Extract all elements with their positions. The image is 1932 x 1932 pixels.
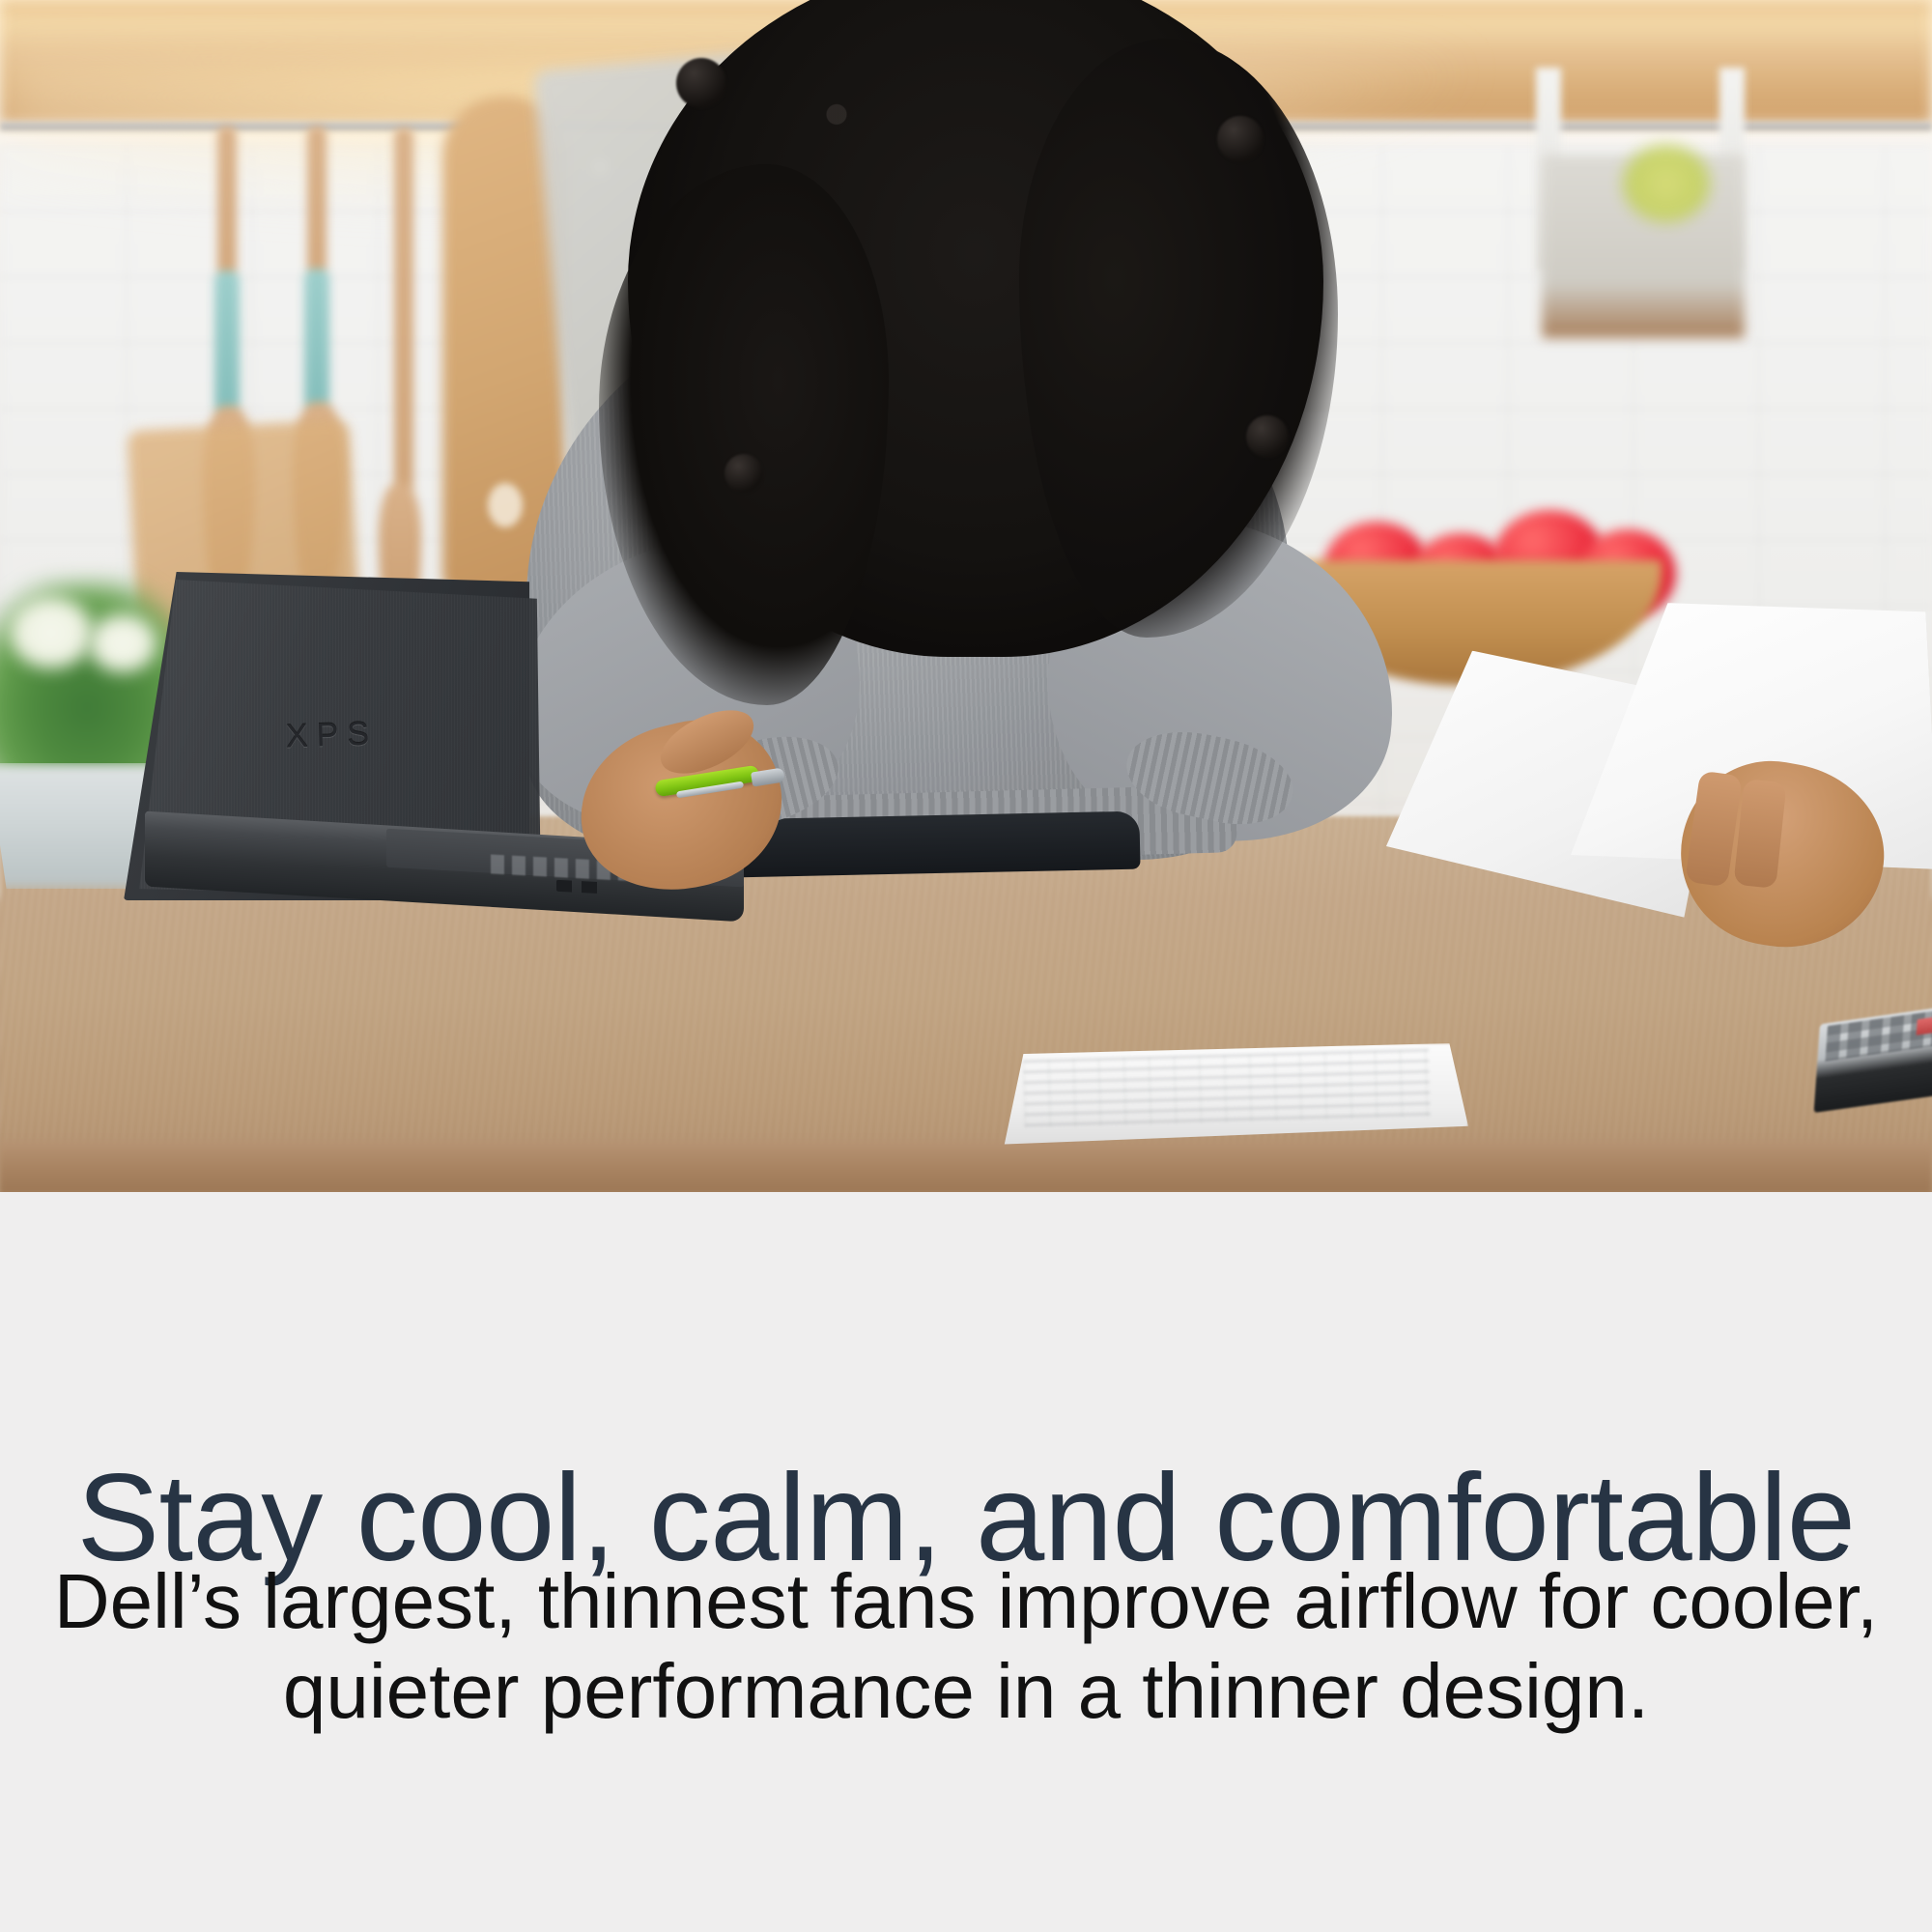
countertop-edge — [0, 1140, 1932, 1192]
subhead-line-1: Dell’s largest, thinnest fans improve ai… — [0, 1557, 1932, 1647]
plant-bloom-1 — [10, 597, 93, 668]
laptop-ports — [556, 880, 603, 895]
subhead: Dell’s largest, thinnest fans improve ai… — [0, 1557, 1932, 1737]
cutting-board-hole — [488, 483, 523, 527]
basket-greens — [1623, 145, 1710, 222]
marketing-banner: XPS Stay cool, calm, and comfortable Del… — [0, 0, 1932, 1932]
plant-bloom-2 — [89, 614, 156, 672]
hair-curl-4 — [724, 454, 763, 493]
xps-logo: XPS — [285, 715, 378, 755]
receipt-print-lines — [1023, 1049, 1431, 1128]
hero-photo: XPS — [0, 0, 1932, 1192]
hair-curl-1 — [676, 58, 726, 108]
hair-curl-3 — [1246, 415, 1289, 458]
hair-curl-2 — [1217, 116, 1264, 162]
subhead-line-2: quieter performance in a thinner design. — [0, 1647, 1932, 1737]
